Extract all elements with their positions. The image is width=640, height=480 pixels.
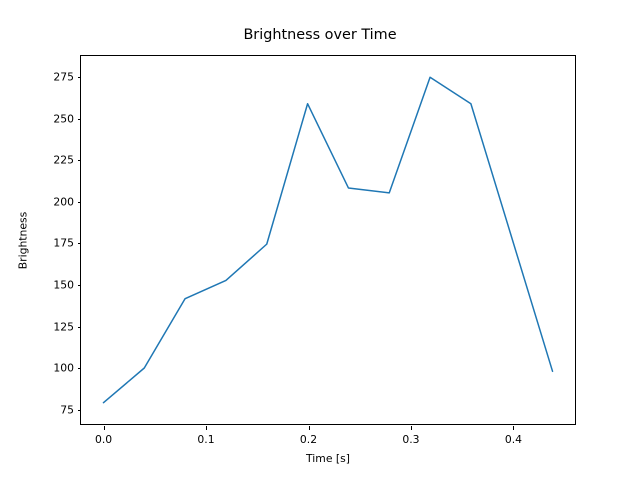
- x-tick-label: 0.0: [95, 433, 112, 446]
- y-tick-label: 150: [53, 279, 74, 292]
- x-tick-mark: [104, 426, 105, 430]
- y-axis-label: Brightness: [16, 55, 30, 425]
- x-tick-label: 0.1: [197, 433, 214, 446]
- y-tick-mark: [78, 285, 82, 286]
- y-tick-mark: [78, 77, 82, 78]
- y-tick-label: 75: [60, 403, 74, 416]
- line-series-svg: [81, 56, 575, 424]
- x-tick-mark: [309, 426, 310, 430]
- y-tick-mark: [78, 119, 82, 120]
- y-tick-label: 250: [53, 112, 74, 125]
- x-tick-label: 0.2: [300, 433, 317, 446]
- y-tick-label: 200: [53, 195, 74, 208]
- brightness-line: [103, 77, 552, 402]
- plot-area: 0.00.10.20.30.47510012515017520022525027…: [80, 55, 576, 425]
- y-tick-mark: [78, 243, 82, 244]
- y-axis-label-text: Brightness: [17, 211, 30, 269]
- x-axis-label: Time [s]: [80, 452, 576, 465]
- chart-title: Brightness over Time: [0, 26, 640, 44]
- x-tick-mark: [411, 426, 412, 430]
- y-tick-label: 175: [53, 237, 74, 250]
- y-tick-mark: [78, 368, 82, 369]
- y-tick-label: 100: [53, 362, 74, 375]
- x-tick-label: 0.4: [505, 433, 522, 446]
- x-tick-label: 0.3: [402, 433, 419, 446]
- y-tick-mark: [78, 160, 82, 161]
- y-tick-mark: [78, 327, 82, 328]
- x-tick-mark: [513, 426, 514, 430]
- y-tick-label: 275: [53, 71, 74, 84]
- x-tick-mark: [206, 426, 207, 430]
- y-tick-mark: [78, 202, 82, 203]
- y-tick-mark: [78, 410, 82, 411]
- y-tick-label: 225: [53, 154, 74, 167]
- y-tick-label: 125: [53, 320, 74, 333]
- matplotlib-figure: Brightness over Time 0.00.10.20.30.47510…: [0, 0, 640, 480]
